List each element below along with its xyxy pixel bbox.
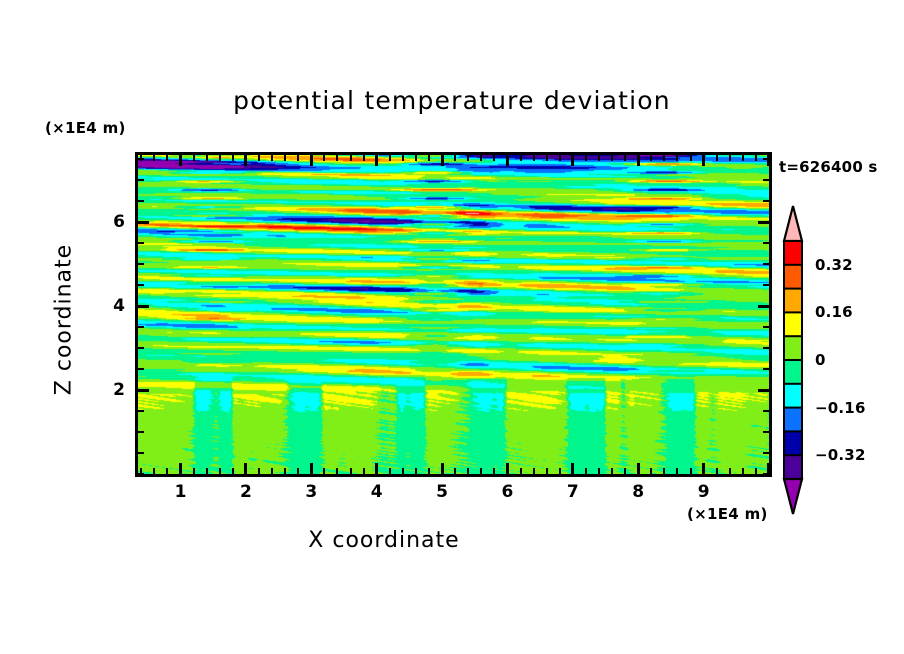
contour-field-canvas bbox=[138, 155, 769, 474]
x-major-tick-top bbox=[179, 155, 182, 166]
colorbar-band bbox=[784, 384, 802, 408]
x-minor-tick-top bbox=[546, 155, 548, 161]
colorbar-band bbox=[784, 455, 802, 479]
x-minor-tick bbox=[219, 468, 221, 474]
x-minor-tick-top bbox=[350, 155, 352, 161]
y-minor-tick-right bbox=[763, 158, 769, 160]
x-minor-tick-top bbox=[742, 155, 744, 161]
x-minor-tick-top bbox=[323, 155, 325, 161]
x-minor-tick bbox=[402, 468, 404, 474]
y-minor-tick-right bbox=[763, 347, 769, 349]
y-minor-tick bbox=[138, 263, 144, 265]
x-minor-tick bbox=[297, 468, 299, 474]
colorbar-tick-label: 0 bbox=[815, 351, 826, 369]
x-axis-title: X coordinate bbox=[0, 528, 768, 553]
y-minor-tick-right bbox=[763, 200, 769, 202]
timestamp-label: t=626400 s bbox=[779, 158, 878, 176]
x-minor-tick-top bbox=[402, 155, 404, 161]
x-major-tick bbox=[375, 463, 378, 474]
x-minor-tick bbox=[585, 468, 587, 474]
x-minor-tick-top bbox=[389, 155, 391, 161]
y-major-tick-right bbox=[758, 305, 769, 308]
y-axis-title: Z coordinate bbox=[52, 230, 77, 410]
x-minor-tick bbox=[415, 468, 417, 474]
x-minor-tick bbox=[520, 468, 522, 474]
x-minor-tick bbox=[363, 468, 365, 474]
colorbar-tick-label: 0.32 bbox=[815, 256, 853, 274]
y-minor-tick bbox=[138, 347, 144, 349]
x-tick-label: 8 bbox=[625, 482, 651, 502]
x-tick-label: 3 bbox=[298, 482, 324, 502]
x-minor-tick bbox=[284, 468, 286, 474]
x-minor-tick bbox=[336, 468, 338, 474]
x-minor-tick bbox=[624, 468, 626, 474]
y-minor-tick bbox=[138, 410, 144, 412]
x-minor-tick bbox=[650, 468, 652, 474]
y-minor-tick bbox=[138, 200, 144, 202]
y-minor-tick-right bbox=[763, 431, 769, 433]
x-minor-tick bbox=[323, 468, 325, 474]
x-tick-label: 6 bbox=[494, 482, 520, 502]
x-minor-tick bbox=[546, 468, 548, 474]
x-minor-tick-top bbox=[336, 155, 338, 161]
x-minor-tick-top bbox=[585, 155, 587, 161]
x-minor-tick bbox=[206, 468, 208, 474]
x-minor-tick-top bbox=[676, 155, 678, 161]
y-major-tick-right bbox=[758, 221, 769, 224]
colorbar-under-arrow bbox=[784, 479, 802, 514]
x-minor-tick-top bbox=[480, 155, 482, 161]
x-minor-tick-top bbox=[520, 155, 522, 161]
x-minor-tick-top bbox=[206, 155, 208, 161]
colorbar-svg bbox=[781, 205, 805, 515]
y-tick-label: 4 bbox=[103, 296, 125, 316]
x-major-tick-top bbox=[244, 155, 247, 166]
x-minor-tick bbox=[271, 468, 273, 474]
y-minor-tick bbox=[138, 158, 144, 160]
x-minor-tick-top bbox=[415, 155, 417, 161]
x-minor-tick-top bbox=[559, 155, 561, 161]
x-minor-tick bbox=[232, 468, 234, 474]
x-major-tick-top bbox=[702, 155, 705, 166]
x-minor-tick bbox=[193, 468, 195, 474]
x-minor-tick-top bbox=[258, 155, 260, 161]
x-minor-tick bbox=[755, 468, 757, 474]
y-minor-tick bbox=[138, 473, 144, 475]
y-minor-tick-right bbox=[763, 263, 769, 265]
x-minor-tick-top bbox=[663, 155, 665, 161]
x-minor-tick bbox=[611, 468, 613, 474]
x-minor-tick-top bbox=[493, 155, 495, 161]
colorbar-band bbox=[784, 408, 802, 432]
y-minor-tick-right bbox=[763, 326, 769, 328]
y-axis-unit-label: (×1E4 m) bbox=[45, 119, 126, 137]
colorbar-band bbox=[784, 289, 802, 313]
y-major-tick-right bbox=[758, 389, 769, 392]
colorbar[interactable] bbox=[781, 205, 805, 515]
x-major-tick bbox=[310, 463, 313, 474]
x-major-tick-top bbox=[571, 155, 574, 166]
y-major-tick bbox=[138, 305, 149, 308]
x-major-tick bbox=[702, 463, 705, 474]
x-minor-tick-top bbox=[363, 155, 365, 161]
x-minor-tick bbox=[258, 468, 260, 474]
colorbar-band bbox=[784, 431, 802, 455]
colorbar-band bbox=[784, 336, 802, 360]
x-minor-tick-top bbox=[467, 155, 469, 161]
colorbar-over-arrow bbox=[784, 206, 802, 241]
x-major-tick-top bbox=[375, 155, 378, 166]
x-minor-tick bbox=[690, 468, 692, 474]
x-minor-tick bbox=[598, 468, 600, 474]
x-minor-tick-top bbox=[428, 155, 430, 161]
x-minor-tick bbox=[350, 468, 352, 474]
x-minor-tick bbox=[742, 468, 744, 474]
y-minor-tick-right bbox=[763, 473, 769, 475]
x-minor-tick bbox=[729, 468, 731, 474]
y-minor-tick-right bbox=[763, 284, 769, 286]
colorbar-tick-label: 0.16 bbox=[815, 303, 853, 321]
x-major-tick-top bbox=[767, 155, 770, 166]
y-tick-label: 6 bbox=[103, 212, 125, 232]
y-minor-tick-right bbox=[763, 242, 769, 244]
x-major-tick-top bbox=[637, 155, 640, 166]
y-major-tick bbox=[138, 389, 149, 392]
x-minor-tick-top bbox=[690, 155, 692, 161]
y-minor-tick bbox=[138, 368, 144, 370]
x-tick-label: 2 bbox=[233, 482, 259, 502]
colorbar-band bbox=[784, 360, 802, 384]
x-minor-tick-top bbox=[598, 155, 600, 161]
colorbar-band bbox=[784, 265, 802, 289]
figure-root: potential temperature deviation (×1E4 m)… bbox=[0, 0, 904, 654]
x-minor-tick-top bbox=[166, 155, 168, 161]
x-minor-tick bbox=[533, 468, 535, 474]
x-tick-label: 9 bbox=[691, 482, 717, 502]
x-minor-tick bbox=[676, 468, 678, 474]
x-minor-tick-top bbox=[533, 155, 535, 161]
x-minor-tick bbox=[428, 468, 430, 474]
x-major-tick bbox=[637, 463, 640, 474]
colorbar-tick-label: −0.16 bbox=[815, 399, 866, 417]
x-tick-label: 1 bbox=[168, 482, 194, 502]
x-minor-tick bbox=[716, 468, 718, 474]
y-minor-tick bbox=[138, 431, 144, 433]
x-minor-tick-top bbox=[729, 155, 731, 161]
page-title: potential temperature deviation bbox=[0, 86, 904, 115]
x-minor-tick-top bbox=[219, 155, 221, 161]
x-minor-tick bbox=[153, 468, 155, 474]
contour-plot-panel[interactable] bbox=[135, 152, 772, 477]
colorbar-tick-label: −0.32 bbox=[815, 446, 866, 464]
x-major-tick-top bbox=[310, 155, 313, 166]
y-minor-tick-right bbox=[763, 452, 769, 454]
colorbar-band bbox=[784, 241, 802, 265]
x-tick-label: 5 bbox=[429, 482, 455, 502]
y-minor-tick-right bbox=[763, 410, 769, 412]
x-minor-tick bbox=[389, 468, 391, 474]
x-minor-tick-top bbox=[271, 155, 273, 161]
x-major-tick-top bbox=[441, 155, 444, 166]
x-minor-tick-top bbox=[297, 155, 299, 161]
y-minor-tick bbox=[138, 452, 144, 454]
x-tick-label: 4 bbox=[364, 482, 390, 502]
x-tick-label: 7 bbox=[560, 482, 586, 502]
x-minor-tick bbox=[493, 468, 495, 474]
y-major-tick bbox=[138, 221, 149, 224]
x-minor-tick-top bbox=[650, 155, 652, 161]
y-minor-tick bbox=[138, 284, 144, 286]
x-minor-tick-top bbox=[755, 155, 757, 161]
x-minor-tick bbox=[166, 468, 168, 474]
x-major-tick-top bbox=[506, 155, 509, 166]
x-minor-tick-top bbox=[624, 155, 626, 161]
y-minor-tick bbox=[138, 242, 144, 244]
x-minor-tick-top bbox=[284, 155, 286, 161]
x-minor-tick bbox=[467, 468, 469, 474]
x-axis-unit-label: (×1E4 m) bbox=[687, 505, 768, 523]
x-minor-tick bbox=[559, 468, 561, 474]
x-major-tick bbox=[506, 463, 509, 474]
x-minor-tick-top bbox=[454, 155, 456, 161]
x-major-tick bbox=[441, 463, 444, 474]
y-minor-tick-right bbox=[763, 179, 769, 181]
x-major-tick bbox=[179, 463, 182, 474]
y-tick-label: 2 bbox=[103, 380, 125, 400]
x-minor-tick-top bbox=[716, 155, 718, 161]
x-minor-tick bbox=[480, 468, 482, 474]
x-minor-tick-top bbox=[193, 155, 195, 161]
x-major-tick bbox=[244, 463, 247, 474]
x-minor-tick-top bbox=[611, 155, 613, 161]
y-minor-tick bbox=[138, 179, 144, 181]
x-minor-tick-top bbox=[232, 155, 234, 161]
x-minor-tick bbox=[663, 468, 665, 474]
x-minor-tick-top bbox=[153, 155, 155, 161]
x-major-tick bbox=[571, 463, 574, 474]
y-minor-tick-right bbox=[763, 368, 769, 370]
colorbar-band bbox=[784, 312, 802, 336]
x-minor-tick bbox=[454, 468, 456, 474]
y-minor-tick bbox=[138, 326, 144, 328]
